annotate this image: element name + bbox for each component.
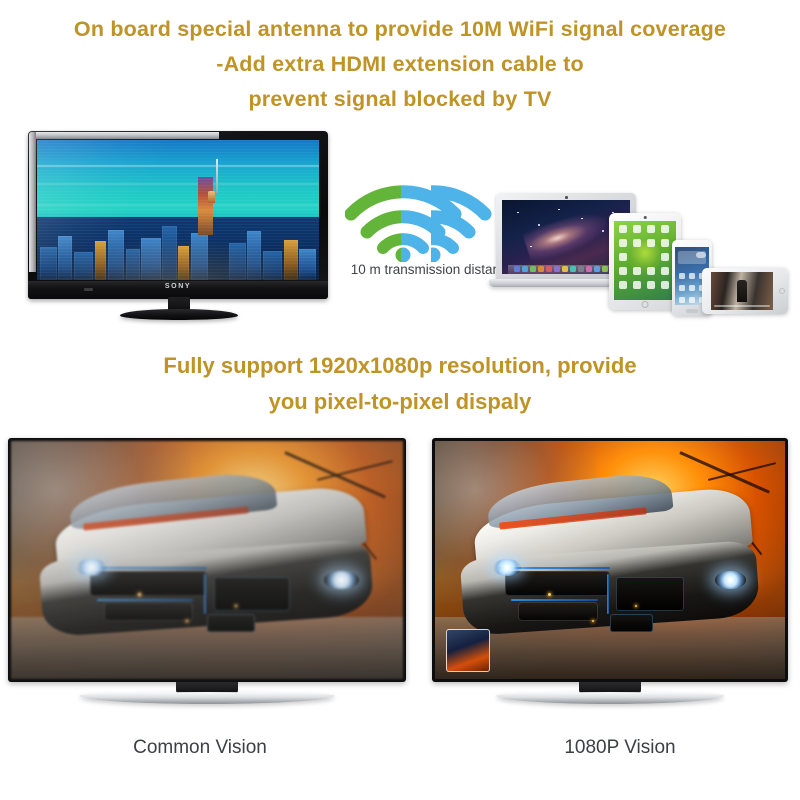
mid-headline-line-1: Fully support 1920x1080p resolution, pro… <box>0 348 800 384</box>
wifi-block: 10 m transmission distance <box>345 176 520 286</box>
video-subject <box>737 280 747 301</box>
hd-tv-frame <box>432 438 788 682</box>
tv-stand-base <box>120 309 238 320</box>
tv-screen-reflection <box>37 140 192 280</box>
tablet-camera-icon <box>644 216 647 219</box>
racing-car <box>456 498 764 650</box>
tv-brand-logo: SONY <box>28 283 328 290</box>
tablet-screen <box>614 221 676 300</box>
common-tv-stand-base <box>80 692 335 704</box>
common-tv-frame <box>8 438 406 682</box>
headline-line-1: On board special antenna to provide 10M … <box>0 12 800 47</box>
tv-bezel-highlight-left <box>29 132 36 272</box>
caption-1080p-vision: 1080P Vision <box>440 737 800 759</box>
car-headlight-left <box>493 559 521 576</box>
mid-headline-block: Fully support 1920x1080p resolution, pro… <box>0 348 800 420</box>
racing-car <box>35 498 380 650</box>
headline-block: On board special antenna to provide 10M … <box>0 12 800 117</box>
common-tv-screen <box>11 441 403 679</box>
smartphone-landscape-device <box>702 268 788 314</box>
device-cluster <box>496 190 796 318</box>
mid-headline-line-2: you pixel-to-pixel dispaly <box>0 384 800 420</box>
smartphone-video-screen <box>711 272 773 310</box>
headline-line-3: prevent signal blocked by TV <box>0 82 800 117</box>
screen-inset-thumbnail <box>446 629 490 671</box>
tv-screen <box>37 140 319 280</box>
video-progress-bar[interactable] <box>714 305 770 307</box>
galaxy-wallpaper <box>522 207 612 264</box>
caption-common-vision: Common Vision <box>0 737 400 759</box>
smartphone-landscape-home-button[interactable] <box>779 288 785 294</box>
hd-tv-screen <box>435 441 785 679</box>
tablet-home-button[interactable] <box>642 301 649 308</box>
headline-line-2: -Add extra HDMI extension cable to <box>0 47 800 82</box>
hd-tv-stand-base <box>496 692 724 704</box>
sony-television: SONY <box>28 131 328 314</box>
comparison-block <box>0 438 800 728</box>
car-headlight-left <box>76 559 107 576</box>
product-feature-banner: On board special antenna to provide 10M … <box>0 0 800 800</box>
tv-bezel-highlight-top <box>29 132 219 139</box>
laptop-camera-icon <box>565 196 568 199</box>
weather-cloud-icon <box>696 252 706 258</box>
tablet-device <box>609 213 681 310</box>
wifi-signal-icon <box>345 176 520 262</box>
wifi-distance-caption: 10 m transmission distance <box>345 262 520 277</box>
smartphone-home-button[interactable] <box>686 309 698 313</box>
